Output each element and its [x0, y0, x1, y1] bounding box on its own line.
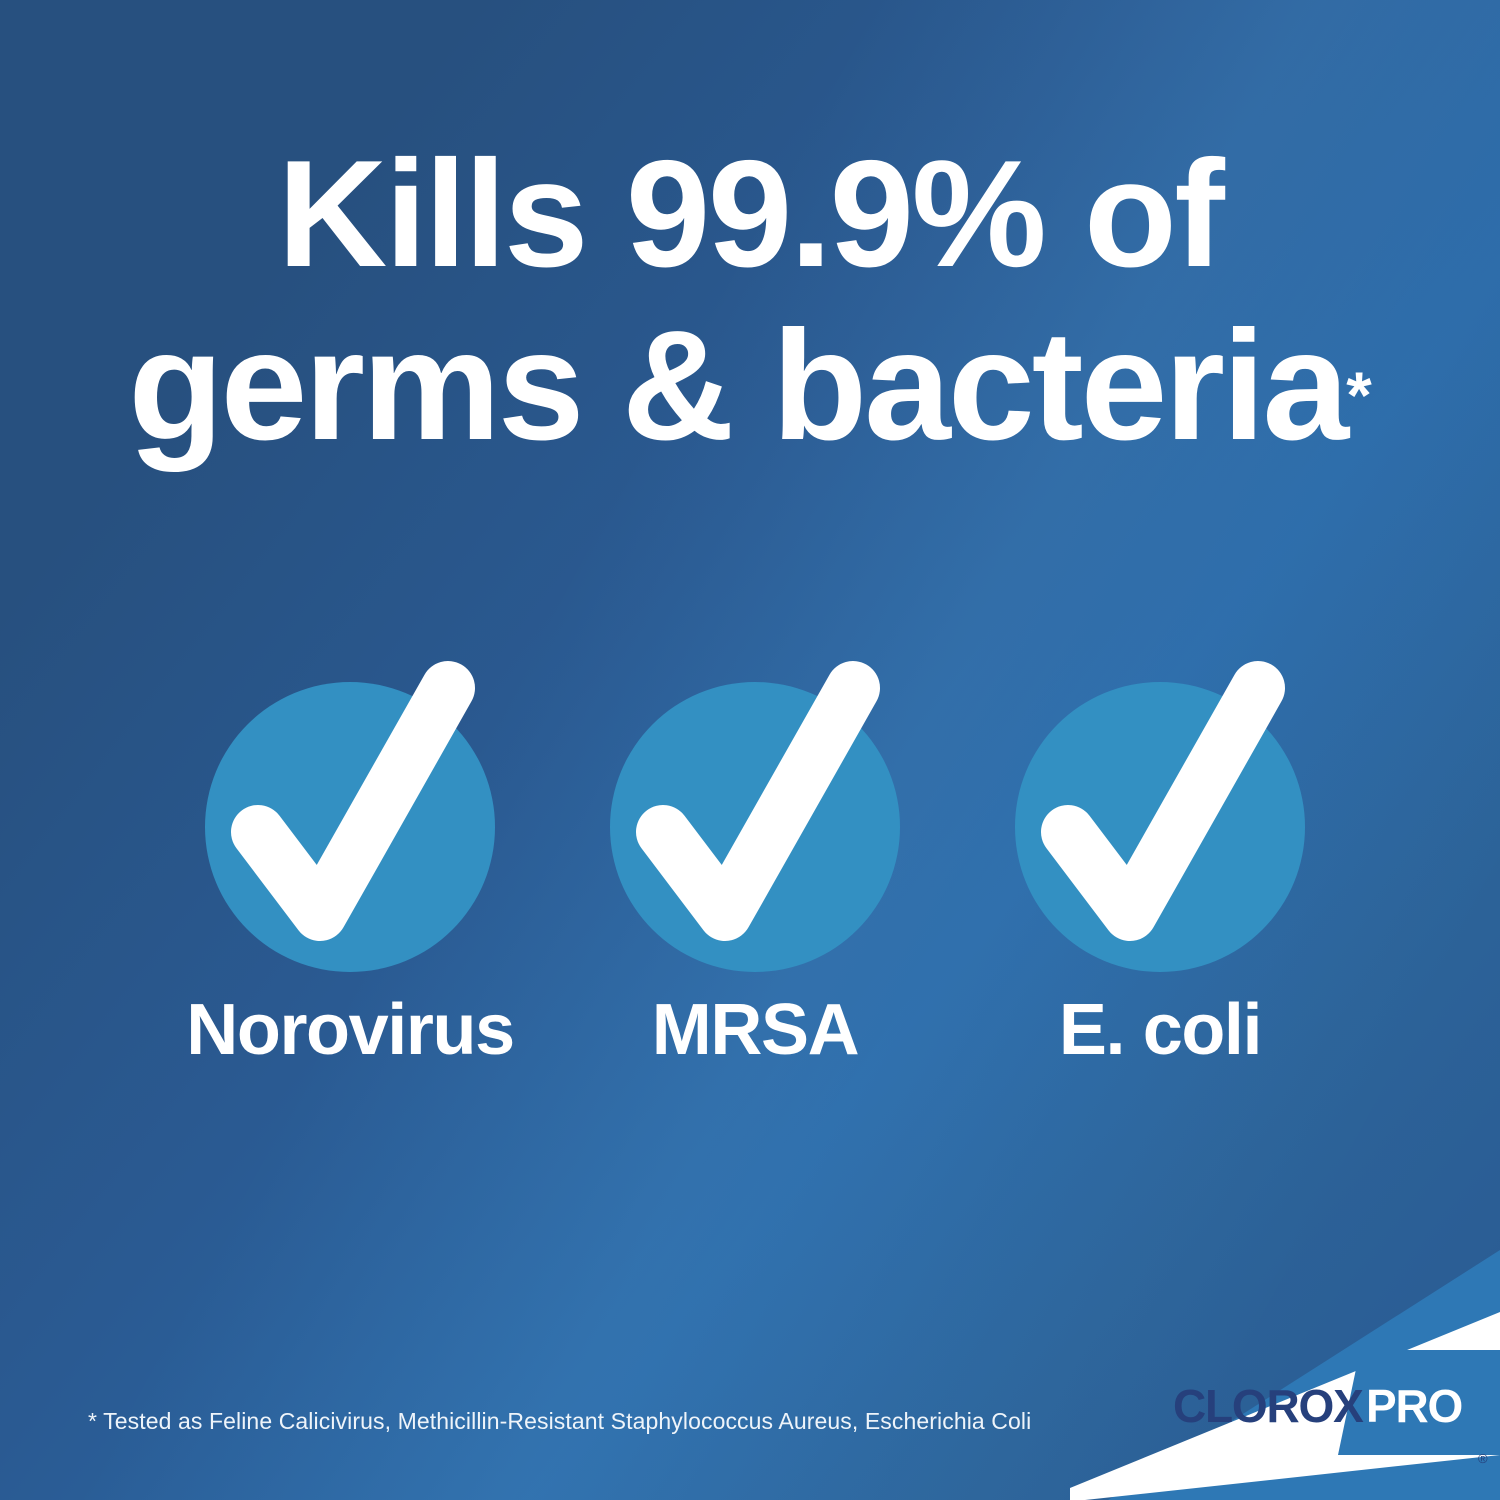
promo-graphic: Kills 99.9% of germs & bacteria* Norovir…: [0, 0, 1500, 1500]
headline-line-2: germs & bacteria*: [0, 300, 1500, 472]
claim-label: E. coli: [918, 990, 1402, 1070]
claims-row: Norovirus MRSA E. coli: [0, 672, 1500, 1112]
check-badge: [958, 672, 1362, 982]
logo-suffix-text: PRO: [1366, 1380, 1462, 1432]
footnote-marker: *: [1346, 359, 1372, 432]
claim-item-ecoli: E. coli: [958, 672, 1362, 1112]
headline-line-1: Kills 99.9% of: [278, 129, 1223, 299]
claim-item-norovirus: Norovirus: [148, 672, 552, 1112]
logo-brand-text: CLOROX: [1173, 1380, 1364, 1432]
footnote-text: * Tested as Feline Calicivirus, Methicil…: [88, 1406, 1031, 1436]
registered-mark-icon: ®: [1478, 1451, 1488, 1466]
claim-item-mrsa: MRSA: [553, 672, 957, 1112]
check-badge: [148, 672, 552, 982]
headline-line-2-text: germs & bacteria: [128, 299, 1346, 473]
cloroxpro-logo: CLOROX PRO ®: [1070, 1250, 1500, 1500]
check-badge: [553, 672, 957, 982]
page-title: Kills 99.9% of germs & bacteria*: [0, 128, 1500, 472]
